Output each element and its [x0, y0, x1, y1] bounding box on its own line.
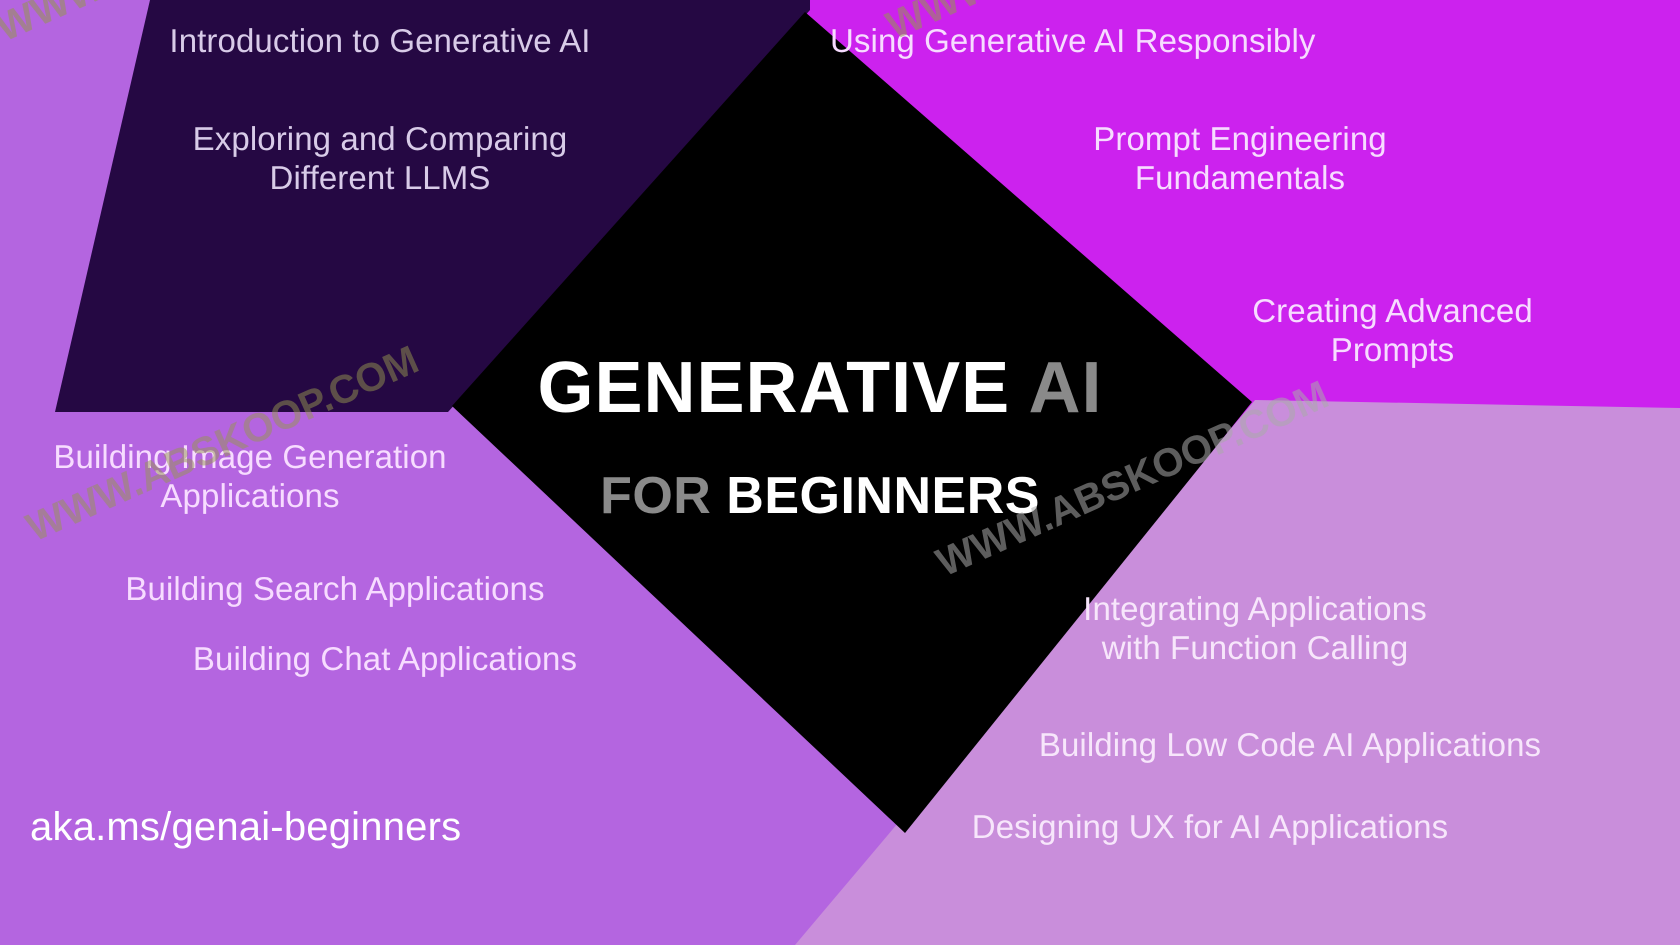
topic-using-generative-ai-responsibly: Using Generative AI Responsibly — [830, 22, 1430, 61]
poster-canvas: Introduction to Generative AI Exploring … — [0, 0, 1680, 945]
topic-creating-advanced-prompts: Creating Advanced Prompts — [1120, 292, 1665, 370]
poster-main-title: GENERATIVE AI — [470, 352, 1170, 424]
topic-exploring-and-comparing-llms: Exploring and Comparing Different LLMS — [70, 120, 690, 198]
footer-url-link[interactable]: aka.ms/genai-beginners — [30, 805, 461, 850]
topic-introduction-to-generative-ai: Introduction to Generative AI — [70, 22, 690, 61]
title-word-ai: AI — [1029, 348, 1103, 428]
topic-integrating-applications-with-function-calling: Integrating Applications with Function C… — [975, 590, 1535, 668]
poster-subtitle: FOR BEGINNERS — [470, 470, 1170, 522]
topic-prompt-engineering-fundamentals: Prompt Engineering Fundamentals — [960, 120, 1520, 198]
topic-building-low-code-ai-applications: Building Low Code AI Applications — [900, 726, 1680, 765]
subtitle-word-beginners: BEGINNERS — [726, 467, 1040, 525]
title-word-generative: GENERATIVE — [537, 348, 1028, 428]
topic-building-chat-applications: Building Chat Applications — [55, 640, 715, 679]
topic-building-search-applications: Building Search Applications — [5, 570, 665, 609]
topic-designing-ux-for-ai-applications: Designing UX for AI Applications — [830, 808, 1590, 847]
topic-building-image-generation-applications: Building Image Generation Applications — [0, 438, 500, 516]
subtitle-word-for: FOR — [600, 467, 726, 525]
